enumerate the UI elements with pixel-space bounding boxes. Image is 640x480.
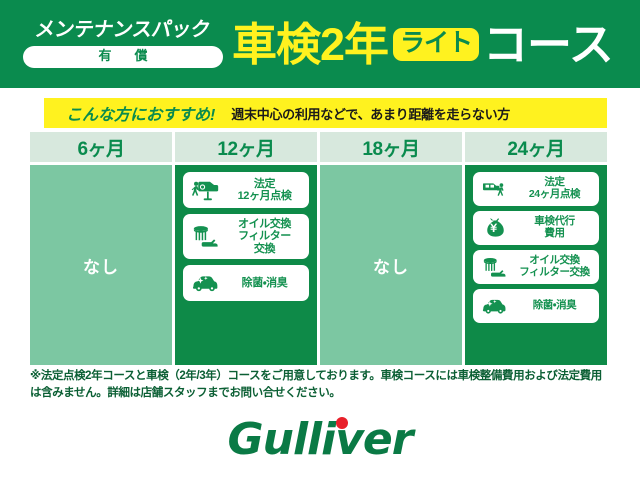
- service-chip-sanitize-24m: 除菌・消臭: [473, 289, 599, 323]
- column-header-24months: 24ヶ月: [465, 132, 607, 162]
- column-body-18months: なし: [320, 165, 462, 365]
- car-lift-inspection-icon: [188, 176, 222, 204]
- recommendation-bar: こんな方におすすめ! 週末中心の利用などで、あまり距離を走らない方: [44, 98, 607, 128]
- top-banner: メンテナンスパック 有 償 車検2年 ライト コース: [0, 0, 640, 88]
- column-body-12months: 法定 12ヶ月点検 オイル交換 フィルター 交換: [175, 165, 317, 365]
- course-main-title: 車検2年: [232, 22, 388, 67]
- table-column-6months: 6ヶ月 なし: [30, 132, 172, 365]
- paid-pill-badge: 有 償: [23, 46, 223, 67]
- service-chip-label: 法定 12ヶ月点検: [225, 178, 304, 203]
- recommendation-headline: こんな方におすすめ!: [66, 101, 215, 125]
- table-column-12months: 12ヶ月 法定 12ヶ月点検: [175, 132, 317, 365]
- banner-left-group: メンテナンスパック 有 償: [0, 20, 236, 67]
- service-chip-label: 法定 24ヶ月点検: [514, 177, 595, 201]
- service-chip-label: オイル交換 フィルター 交換: [225, 218, 304, 255]
- logo-red-dot-icon: [336, 417, 348, 429]
- service-chip-legal-12m-inspection: 法定 12ヶ月点検: [183, 172, 309, 208]
- maintenance-pack-title: メンテナンスパック: [34, 20, 212, 40]
- table-column-18months: 18ヶ月 なし: [320, 132, 462, 365]
- logo-wordmark: Gulliver: [228, 414, 413, 465]
- column-header-18months: 18ヶ月: [320, 132, 462, 162]
- service-chip-label: 除菌・消臭: [225, 277, 304, 289]
- service-chip-legal-24m-inspection: 法定 24ヶ月点検: [473, 172, 599, 206]
- service-chip-oil-filter-24m: オイル交換 フィルター交換: [473, 250, 599, 284]
- money-bag-yen-icon: [477, 214, 511, 242]
- course-tail-title: コース: [483, 22, 613, 67]
- none-label-6months: なし: [83, 253, 119, 278]
- oil-filter-change-icon: [188, 222, 222, 250]
- service-chip-label: オイル交換 フィルター交換: [514, 255, 595, 279]
- column-body-6months: なし: [30, 165, 172, 365]
- light-course-badge: ライト: [393, 28, 479, 61]
- gulliver-logo: Gulliver: [0, 412, 640, 468]
- table-column-24months: 24ヶ月 法定 24ヶ月点検: [465, 132, 607, 365]
- oil-filter-change-icon: [477, 253, 511, 281]
- service-chip-label: 除菌・消臭: [514, 300, 595, 312]
- banner-right-group: 車検2年 ライト コース: [232, 22, 640, 67]
- car-sanitize-icon: [477, 292, 511, 320]
- service-chip-inspection-agency-fee: 車検代行 費用: [473, 211, 599, 245]
- logo-wrap: Gulliver: [228, 418, 413, 462]
- service-chip-oil-filter-12m: オイル交換 フィルター 交換: [183, 214, 309, 259]
- car-sanitize-icon: [188, 269, 222, 297]
- service-chip-label: 車検代行 費用: [514, 216, 595, 240]
- column-header-6months: 6ヶ月: [30, 132, 172, 162]
- disclaimer-note: ※法定点検2年コースと車検（2年/3年）コースをご用意しております。車検コースに…: [30, 368, 610, 401]
- recommendation-detail: 週末中心の利用などで、あまり距離を走らない方: [231, 104, 510, 123]
- column-header-12months: 12ヶ月: [175, 132, 317, 162]
- car-lift-inspection-icon: [477, 175, 511, 203]
- service-chip-sanitize-12m: 除菌・消臭: [183, 265, 309, 301]
- none-label-18months: なし: [373, 253, 409, 278]
- maintenance-schedule-table: 6ヶ月 なし 12ヶ月 法定 12ヶ: [30, 132, 607, 365]
- column-body-24months: 法定 24ヶ月点検 車検代行 費用: [465, 165, 607, 365]
